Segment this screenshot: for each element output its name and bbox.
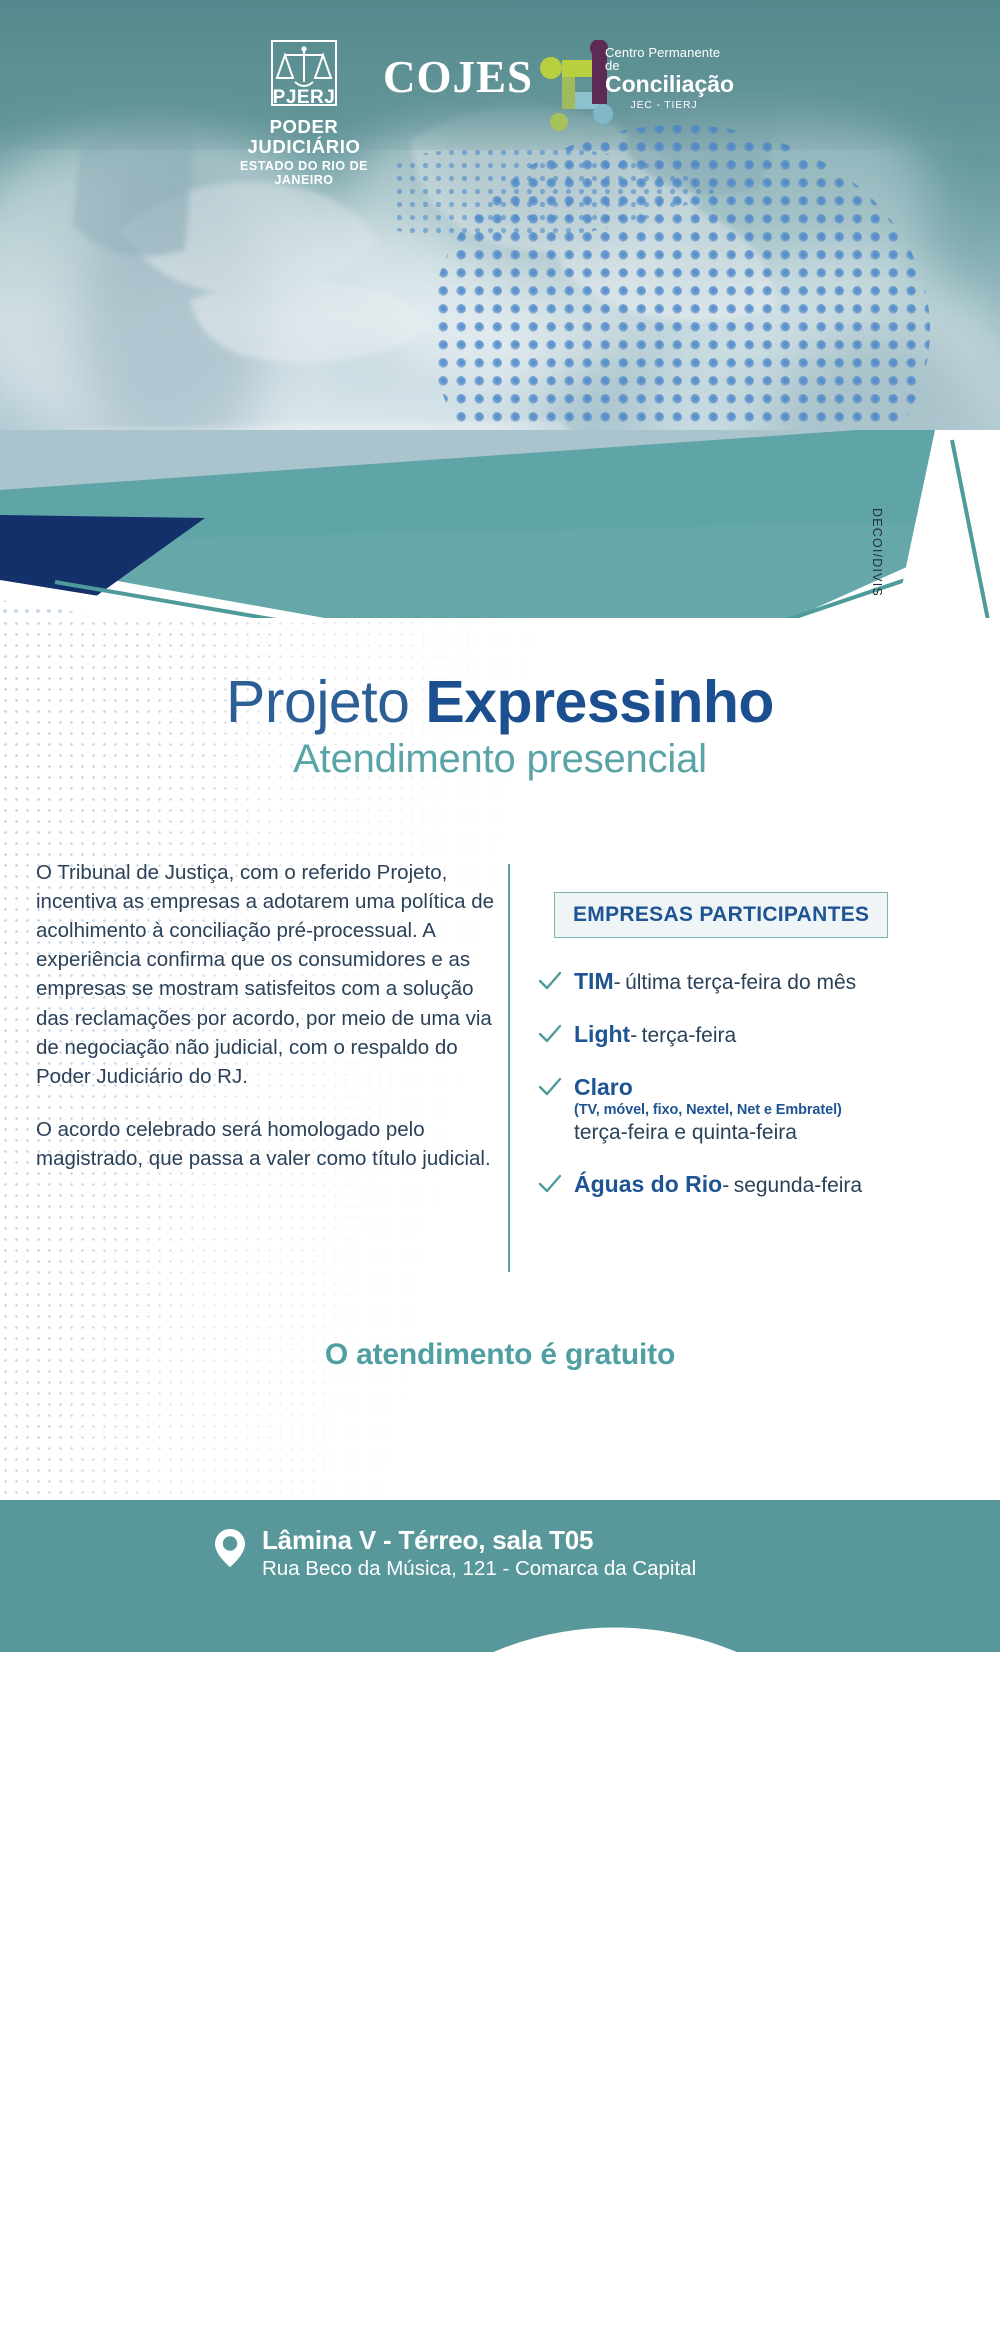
cojes-logo: COJES [383,55,523,100]
pjerj-mark-label: PJERJ [271,87,337,109]
address-row: Lâmina V - Térreo, sala T05 Rua Beco da … [208,1526,968,1581]
hours-text: Horário - 11h às 17h [262,2300,968,2330]
map-pin-icon [208,1526,252,1570]
list-item: Águas do Rio- segunda-feira [536,1171,966,1198]
company-separator: - [630,1024,637,1047]
conciliacao-line2: Conciliação [605,73,734,96]
hours-value: 11h às 17h [370,2299,502,2329]
companies-heading-box: EMPRESAS PARTICIPANTES [554,892,888,938]
title-light: Projeto [226,669,409,735]
company-name: Claro [574,1074,966,1101]
company-day: última terça-feira do mês [625,971,856,994]
checkmark-icon [538,971,562,991]
title-bold: Expressinho [425,669,774,735]
poster-root: PJERJ PODER JUDICIÁRIO ESTADO DO RIO DE … [0,0,1000,1652]
header-logos: PJERJ PODER JUDICIÁRIO ESTADO DO RIO DE … [0,0,1000,150]
company-name: Águas do Rio [574,1171,722,1197]
pjerj-line2: ESTADO DO RIO DE JANEIRO [219,159,389,187]
company-day: terça-feira [642,1024,737,1047]
conciliacao-text: Centro Permanente de Conciliação JEC - T… [605,46,734,111]
company-separator: - [614,971,621,994]
footer-content: Lâmina V - Térreo, sala T05 Rua Beco da … [208,1526,968,2330]
conciliacao-line3: JEC - TIERJ [605,100,723,111]
paragraph-2: O acordo celebrado será homologado pelo … [36,1115,506,1173]
page-subtitle: Atendimento presencial [0,737,1000,782]
companies-column: EMPRESAS PARTICIPANTES TIM- última terça… [536,892,966,1224]
company-subnote: (TV, móvel, fixo, Nextel, Net e Embratel… [574,1102,966,1118]
title-block: Projeto Expressinho Atendimento presenci… [0,672,1000,782]
paragraph-1: O Tribunal de Justiça, com o referido Pr… [36,858,506,1091]
clock-icon [262,1589,968,2295]
address-line-1: Lâmina V - Térreo, sala T05 [262,1526,968,1555]
companies-heading: EMPRESAS PARTICIPANTES [573,903,869,926]
description-column: O Tribunal de Justiça, com o referido Pr… [36,858,506,1173]
list-item: Light- terça-feira [536,1021,966,1048]
column-divider [508,864,510,1272]
conciliacao-logo: Centro Permanente de Conciliação JEC - T… [537,36,727,136]
content-columns: O Tribunal de Justiça, com o referido Pr… [0,858,1000,1278]
companies-list: TIM- última terça-feira do mês Light- te… [536,968,966,1198]
footer-bar: Lâmina V - Térreo, sala T05 Rua Beco da … [0,1500,1000,1652]
checkmark-icon [538,1174,562,1194]
company-separator: - [722,1174,729,1197]
address-line-2: Rua Beco da Música, 121 - Comarca da Cap… [262,1557,968,1582]
list-item: TIM- última terça-feira do mês [536,968,966,995]
hours-row: Horário - 11h às 17h [208,1589,968,2330]
conciliation-blocks-icon [537,40,613,136]
checkmark-icon [538,1077,562,1097]
company-day: terça-feira e quinta-feira [574,1121,966,1145]
list-item: Claro (TV, móvel, fixo, Nextel, Net e Em… [536,1074,966,1145]
hours-label: Horário - [262,2299,370,2329]
company-name: TIM [574,968,614,994]
scales-of-justice-icon: PJERJ [271,40,337,106]
company-name: Light [574,1021,630,1047]
conciliacao-line1: Centro Permanente de [605,46,734,72]
pjerj-logo: PJERJ PODER JUDICIÁRIO ESTADO DO RIO DE … [219,40,389,187]
company-day: segunda-feira [734,1174,862,1197]
free-service-notice: O atendimento é gratuito [0,1338,1000,1372]
pjerj-line1: PODER JUDICIÁRIO [219,117,389,158]
checkmark-icon [538,1024,562,1044]
page-title: Projeto Expressinho [0,672,1000,733]
credit-label: DECOI/DIVIS [870,508,884,638]
